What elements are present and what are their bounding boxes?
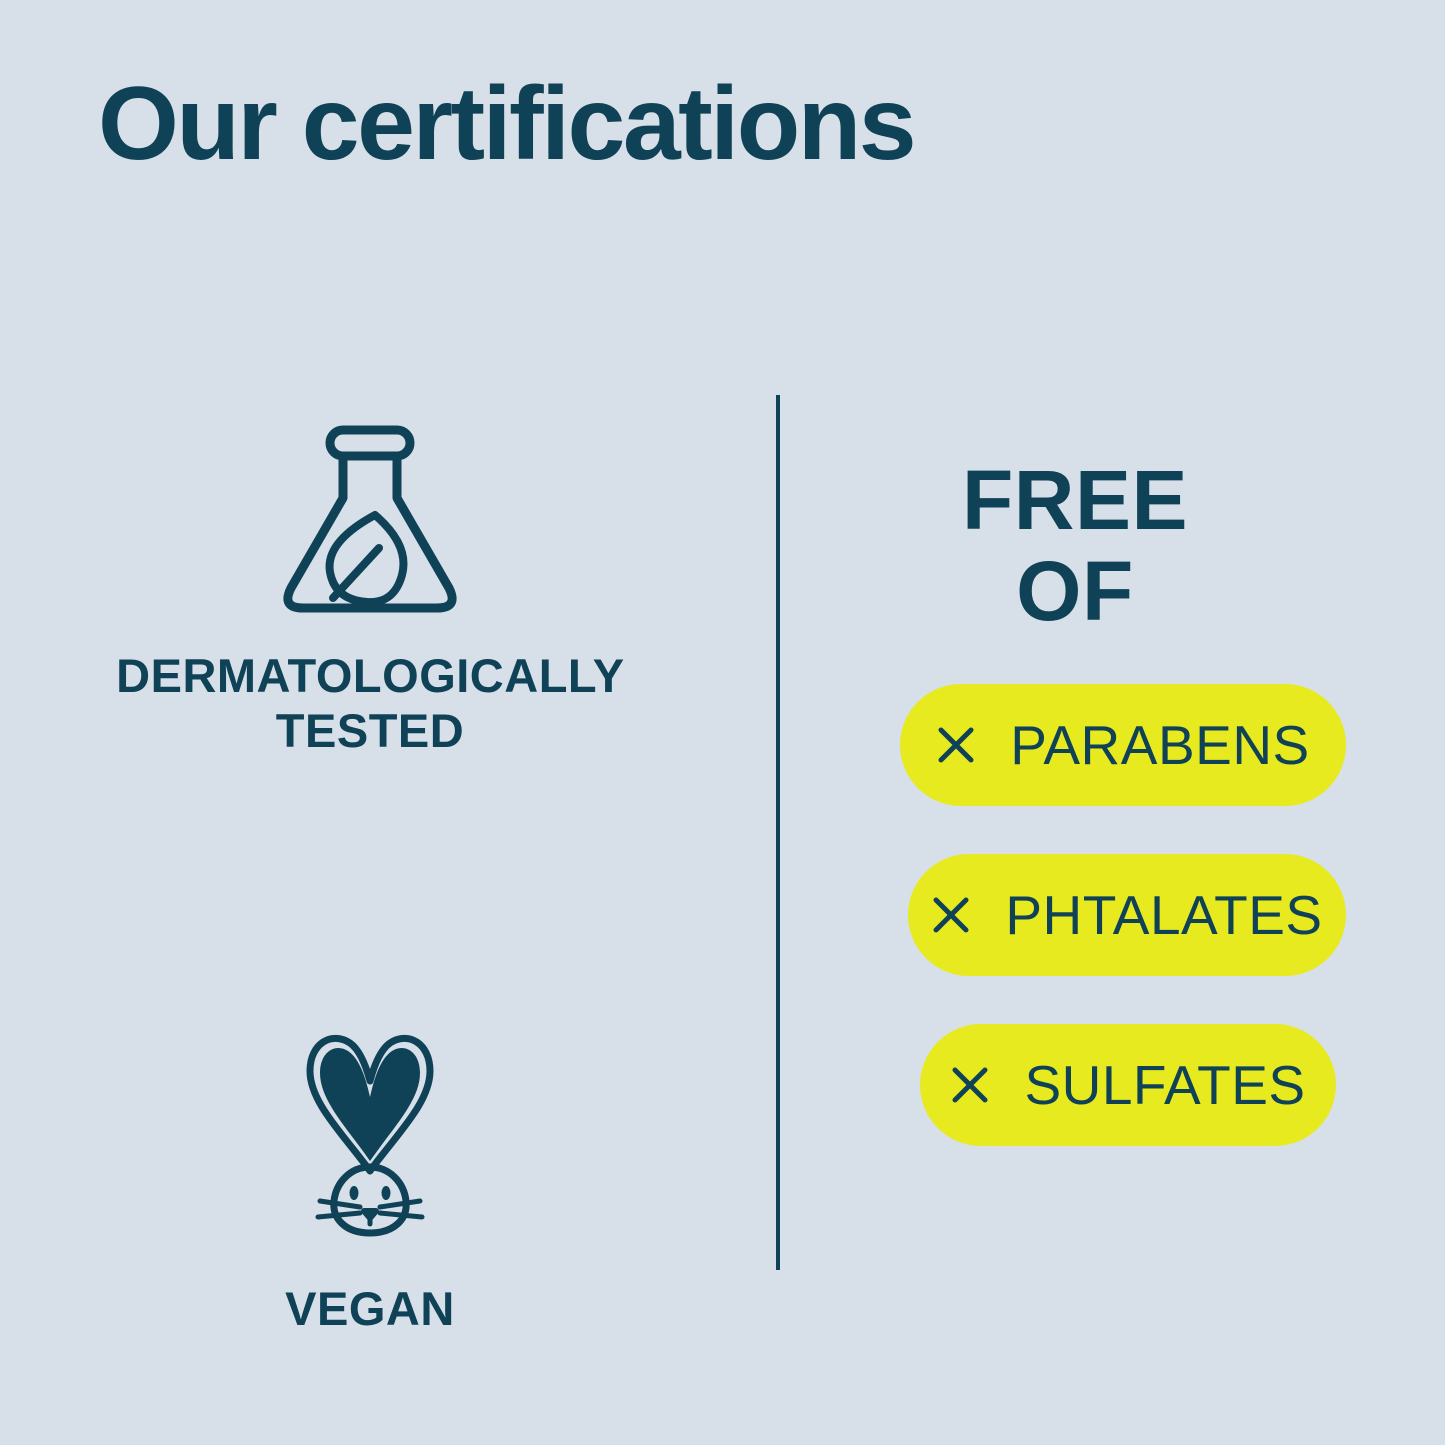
certification-dermatologically-tested: DERMATOLOGICALLY TESTED [40, 420, 700, 759]
page-title: Our certifications [98, 72, 914, 176]
certification-label-line-1: DERMATOLOGICALLY [116, 649, 624, 702]
free-of-pill-phtalates[interactable]: PHTALATES [908, 854, 1346, 976]
free-of-pill-label: PHTALATES [1005, 883, 1322, 947]
certifications-list: DERMATOLOGICALLY TESTED [40, 420, 700, 1336]
free-of-pill-parabens[interactable]: PARABENS [900, 684, 1346, 806]
vertical-divider [776, 395, 780, 1270]
free-of-heading-line-1: FREE [810, 455, 1340, 546]
free-of-pill-sulfates[interactable]: SULFATES [920, 1024, 1336, 1146]
certification-label: DERMATOLOGICALLY TESTED [40, 648, 700, 759]
x-icon [950, 1065, 990, 1105]
rabbit-heart-ears-icon [280, 1021, 460, 1251]
certifications-panel: Our certifications DERMATOLOGICALLY TEST… [0, 0, 1445, 1445]
free-of-heading-line-2: OF [810, 546, 1340, 637]
certification-label: VEGAN [40, 1281, 700, 1336]
free-of-section: FREE OF PARABENS PHTALATES SULFATE [810, 455, 1410, 1194]
free-of-pill-list: PARABENS PHTALATES SULFATES [810, 684, 1370, 1146]
x-icon [936, 725, 976, 765]
certification-vegan: VEGAN [40, 1021, 700, 1336]
x-icon [931, 895, 971, 935]
free-of-pill-label: SULFATES [1024, 1053, 1305, 1117]
free-of-heading: FREE OF [810, 455, 1340, 636]
free-of-pill-label: PARABENS [1010, 713, 1309, 777]
certification-label-line-2: TESTED [276, 704, 464, 757]
certification-label-line-1: VEGAN [285, 1282, 455, 1335]
flask-leaf-icon [275, 420, 465, 620]
